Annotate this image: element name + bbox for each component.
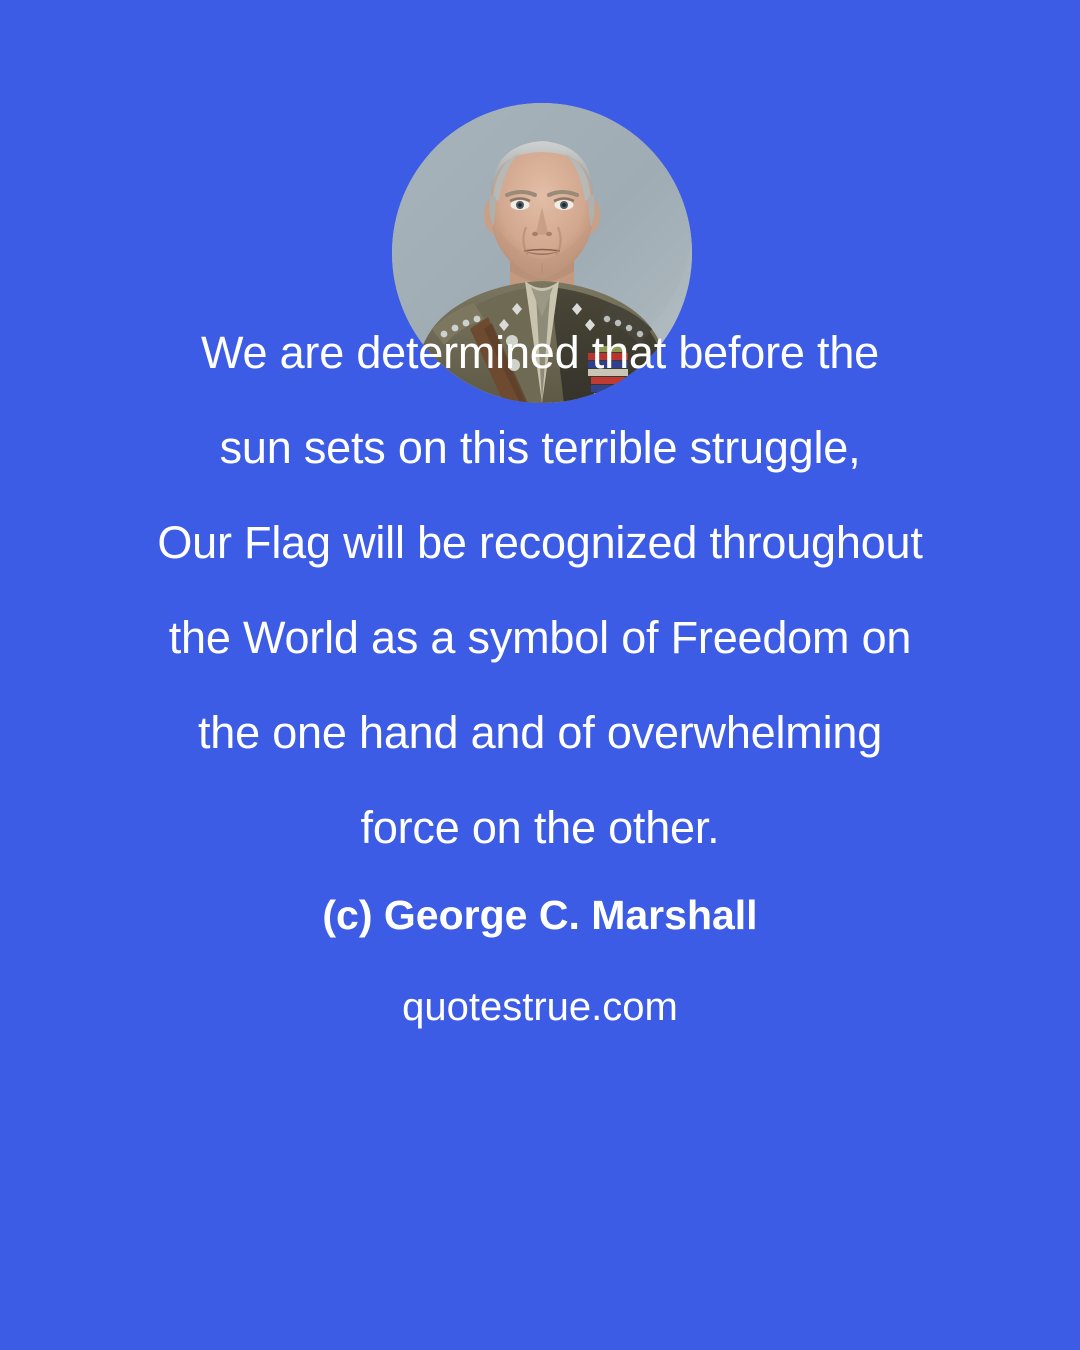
quote-line: We are determined that before the bbox=[60, 305, 1020, 400]
quote-card: We are determined that before the sun se… bbox=[0, 0, 1080, 1350]
quote-line: Our Flag will be recognized throughout bbox=[60, 495, 1020, 590]
quote-line: force on the other. bbox=[60, 780, 1020, 875]
quote-line: the one hand and of overwhelming bbox=[60, 685, 1020, 780]
quote-attribution: (c) George C. Marshall bbox=[60, 885, 1020, 945]
site-watermark: quotestrue.com bbox=[60, 977, 1020, 1037]
quote-text: We are determined that before the sun se… bbox=[60, 305, 1020, 875]
quote-line: sun sets on this terrible struggle, bbox=[60, 400, 1020, 495]
quote-line: the World as a symbol of Freedom on bbox=[60, 590, 1020, 685]
